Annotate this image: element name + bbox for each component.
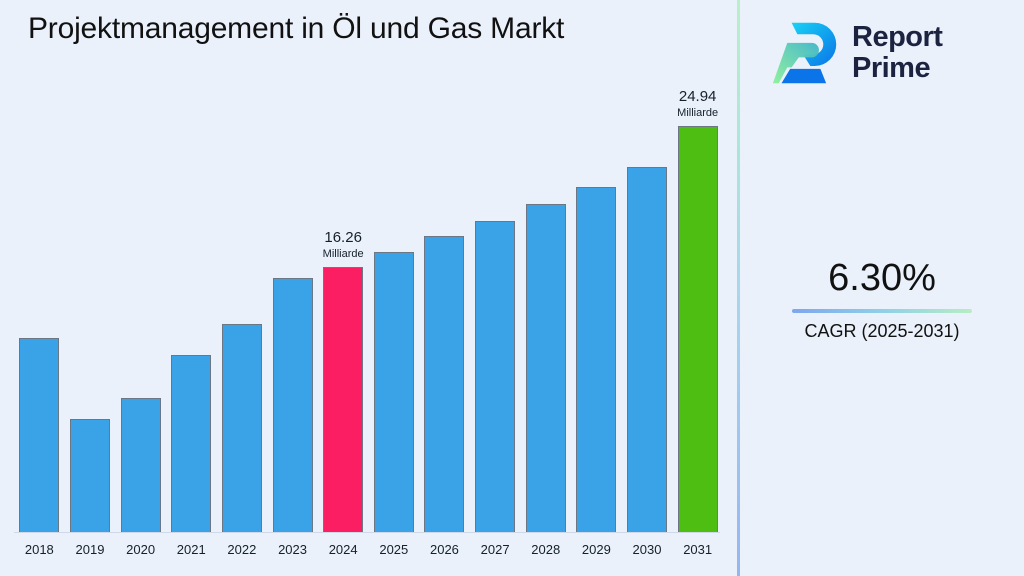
plot-area: 16.26Milliarde24.94Milliarde: [0, 110, 737, 533]
bar-slot: 24.94Milliarde: [672, 110, 723, 532]
bar-unit-2031: Milliarde: [677, 107, 718, 120]
cagr-caption: CAGR (2025-2031): [740, 319, 1024, 343]
bar-slot: [166, 110, 217, 532]
bar-slot: [65, 110, 116, 532]
chart-panel: Projektmanagement in Öl und Gas Markt 16…: [0, 0, 737, 576]
bar-slot: [520, 110, 571, 532]
bar-slot: [368, 110, 419, 532]
cagr-value: 6.30%: [740, 255, 1024, 301]
brand-name-line1: Report: [852, 22, 942, 53]
cagr-divider-rule: [792, 309, 972, 313]
bar-unit-2024: Milliarde: [323, 248, 364, 261]
bar-2021[interactable]: [171, 355, 211, 532]
bar-2026[interactable]: [424, 236, 464, 532]
cagr-block: 6.30% CAGR (2025-2031): [740, 255, 1024, 343]
brand-panel: Report Prime 6.30% CAGR (2025-2031): [740, 0, 1024, 576]
x-tick-2024: 2024: [318, 535, 369, 567]
x-tick-2021: 2021: [166, 535, 217, 567]
bar-2030[interactable]: [627, 167, 667, 532]
x-tick-2030: 2030: [622, 535, 673, 567]
bar-value-2031: 24.94: [677, 88, 718, 105]
axis-baseline: [14, 532, 720, 533]
bar-slot: [115, 110, 166, 532]
x-tick-2022: 2022: [217, 535, 268, 567]
x-tick-2025: 2025: [368, 535, 419, 567]
x-tick-2023: 2023: [267, 535, 318, 567]
x-tick-2027: 2027: [470, 535, 521, 567]
x-tick-2028: 2028: [520, 535, 571, 567]
bar-slot: [419, 110, 470, 532]
x-axis-tick-labels: 2018201920202021202220232024202520262027…: [0, 535, 737, 567]
x-tick-2018: 2018: [14, 535, 65, 567]
brand-wordmark: Report Prime: [852, 22, 942, 84]
bar-2028[interactable]: [526, 204, 566, 532]
bar-value-label-2024: 16.26Milliarde: [323, 229, 364, 261]
bar-slot: [622, 110, 673, 532]
x-tick-2031: 2031: [672, 535, 723, 567]
bar-2023[interactable]: [273, 278, 313, 532]
x-tick-2019: 2019: [65, 535, 116, 567]
bar-2018[interactable]: [19, 338, 59, 532]
bar-series: 16.26Milliarde24.94Milliarde: [0, 110, 737, 532]
bar-2019[interactable]: [70, 419, 110, 532]
bar-2027[interactable]: [475, 221, 515, 532]
brand-logo: Report Prime: [770, 12, 1010, 94]
bar-value-2024: 16.26: [323, 229, 364, 246]
bar-slot: 16.26Milliarde: [318, 110, 369, 532]
bar-slot: [571, 110, 622, 532]
chart-title: Projektmanagement in Öl und Gas Markt: [28, 8, 564, 50]
bar-2022[interactable]: [222, 324, 262, 532]
brand-name-line2: Prime: [852, 53, 942, 84]
bar-slot: [470, 110, 521, 532]
bar-value-label-2031: 24.94Milliarde: [677, 88, 718, 120]
chart-infographic-page: Projektmanagement in Öl und Gas Markt 16…: [0, 0, 1024, 576]
x-tick-2026: 2026: [419, 535, 470, 567]
bar-slot: [267, 110, 318, 532]
x-tick-2020: 2020: [115, 535, 166, 567]
bar-slot: [14, 110, 65, 532]
bar-2025[interactable]: [374, 252, 414, 532]
bar-slot: [217, 110, 268, 532]
bar-2024[interactable]: [323, 267, 363, 532]
bar-2031[interactable]: [678, 126, 718, 532]
bar-2020[interactable]: [121, 398, 161, 532]
report-prime-logo-icon: [770, 17, 842, 89]
x-tick-2029: 2029: [571, 535, 622, 567]
bar-2029[interactable]: [576, 187, 616, 532]
